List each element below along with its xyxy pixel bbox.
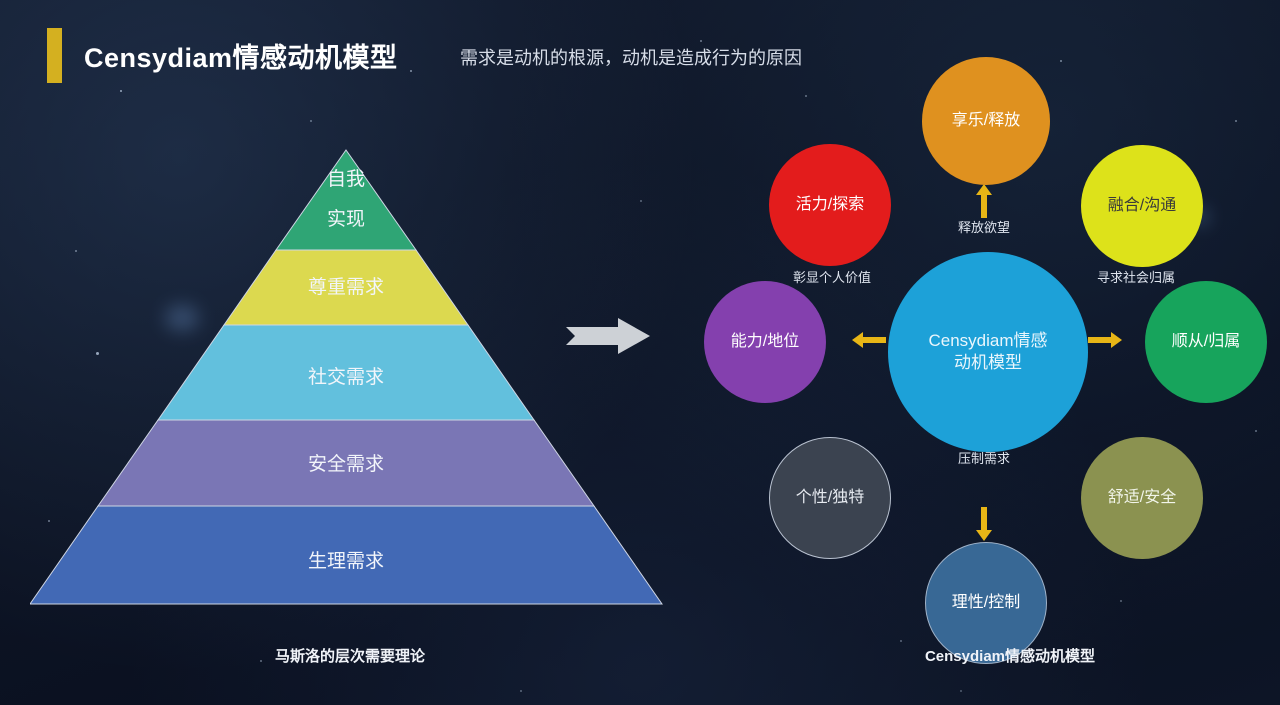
arrow-up-icon [976,184,992,218]
bubble-center-label: Censydiam情感 动机模型 [922,330,1053,374]
bubble-belonging[interactable]: 融合/沟通 [1081,145,1203,267]
title-accent-bar [47,28,62,83]
star [520,690,522,692]
connector-label-up: 释放欲望 [914,217,1054,236]
pyramid-label-1: 尊重需求 [308,276,384,298]
star [900,640,902,642]
bubble-uniqueness-label: 个性/独特 [790,488,870,508]
bubble-enjoyment[interactable]: 享乐/释放 [922,57,1050,185]
bubble-belonging-label: 融合/沟通 [1102,196,1182,216]
bubble-vitality-label: 活力/探索 [790,195,870,215]
slide-canvas: Censydiam情感动机模型 需求是动机的根源，动机是造成行为的原因 自我 实… [0,0,1280,705]
bubble-conformity-label: 顺从/归属 [1166,332,1246,352]
pyramid-label-2: 社交需求 [308,366,384,388]
pyramid-level-0[interactable] [276,150,416,250]
bubble-comfort[interactable]: 舒适/安全 [1081,437,1203,559]
arrow-left-icon [852,332,886,348]
pyramid-label-3: 安全需求 [308,453,384,475]
right-arrow-icon [566,318,650,354]
star [310,120,312,122]
bubble-control-label: 理性/控制 [946,593,1026,613]
star [410,70,412,72]
arrow-right-icon [1088,332,1122,348]
pyramid-svg: 自我 实现 尊重需求 社交需求 安全需求 生理需求 [30,140,690,630]
bubble-comfort-label: 舒适/安全 [1102,488,1182,508]
star [960,690,962,692]
censydiam-diagram: 释放欲望 彰显个人价值 寻求社会归属 压制需求 Censydiam情感 动机模型… [690,40,1280,640]
bubble-enjoyment-label: 享乐/释放 [946,111,1026,131]
pyramid-label-0-line2: 实现 [327,208,365,230]
page-title: Censydiam情感动机模型 [84,36,398,75]
left-panel-caption: 马斯洛的层次需要理论 [180,645,520,666]
bubble-uniqueness[interactable]: 个性/独特 [769,437,891,559]
maslow-pyramid: 自我 实现 尊重需求 社交需求 安全需求 生理需求 [30,140,690,630]
arrow-down-icon [976,507,992,541]
right-panel-caption: Censydiam情感动机模型 [835,645,1185,666]
bubble-center-line2: 动机模型 [954,353,1022,372]
bubble-center-censydiam[interactable]: Censydiam情感 动机模型 [888,252,1088,452]
bubble-conformity[interactable]: 顺从/归属 [1145,281,1267,403]
bubble-vitality[interactable]: 活力/探索 [769,144,891,266]
pyramid-label-0-line1: 自我 [327,168,365,190]
star [120,90,122,92]
bubble-status-label: 能力/地位 [725,332,805,352]
bubble-status[interactable]: 能力/地位 [704,281,826,403]
bubble-center-line1: Censydiam情感 [928,331,1047,350]
pyramid-label-4: 生理需求 [308,550,384,572]
